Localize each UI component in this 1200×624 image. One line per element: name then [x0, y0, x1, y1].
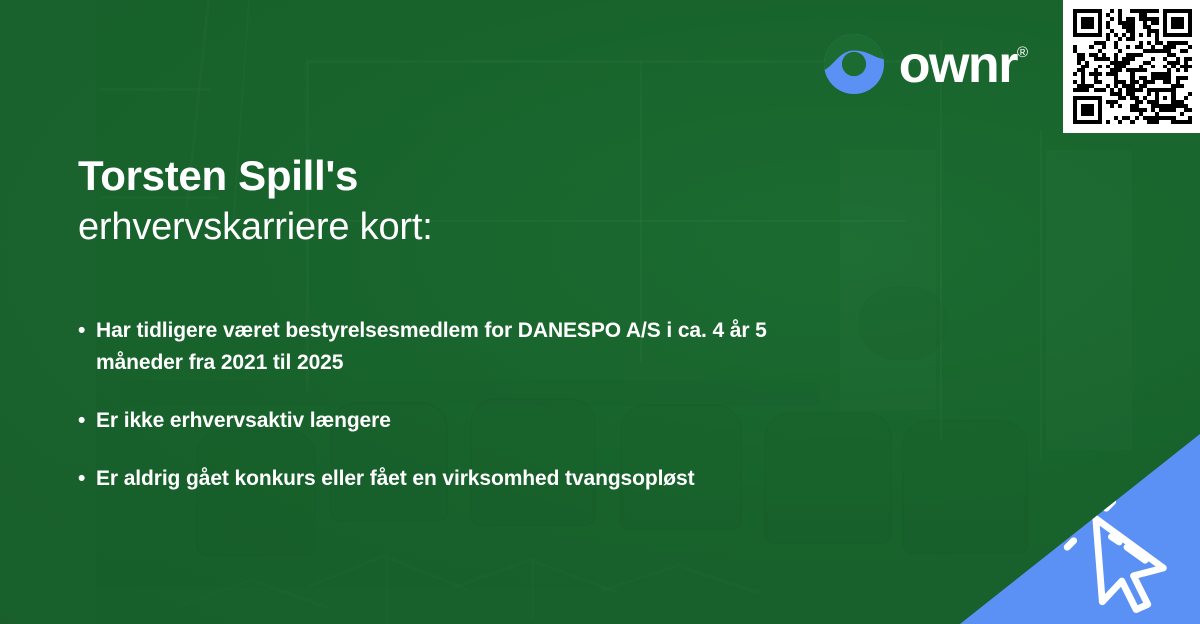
list-item: • Er ikke erhvervsaktiv længere: [78, 405, 908, 437]
bullet-marker: •: [78, 405, 96, 437]
career-summary-list: • Har tidligere været bestyrelsesmedlem …: [78, 315, 908, 495]
trademark-symbol: ®: [1017, 44, 1028, 61]
ownr-circle-swirl-logo: [823, 33, 885, 95]
business-career-card: ownr® Torsten Spill's erhvervskarriere k…: [0, 0, 1200, 624]
brand-wordmark: ownr®: [899, 39, 1028, 91]
page-title: Torsten Spill's erhvervskarriere kort:: [78, 152, 433, 250]
brand-logo: ownr®: [823, 33, 1028, 95]
list-item-text: Er ikke erhvervsaktiv længere: [96, 405, 826, 437]
title-line-1: Torsten Spill's: [78, 152, 433, 199]
bullet-marker: •: [78, 463, 96, 495]
list-item-text: Har tidligere været bestyrelsesmedlem fo…: [96, 315, 826, 379]
list-item-text: Er aldrig gået konkurs eller fået en vir…: [96, 463, 826, 495]
brand-name: ownr: [899, 36, 1017, 94]
list-item: • Har tidligere været bestyrelsesmedlem …: [78, 315, 908, 379]
title-line-2: erhvervskarriere kort:: [78, 205, 433, 250]
corner-accent-triangle: [960, 434, 1200, 624]
list-item: • Er aldrig gået konkurs eller fået en v…: [78, 463, 908, 495]
qr-code-grid: [1073, 9, 1192, 124]
bullet-marker: •: [78, 315, 96, 347]
qr-code[interactable]: [1063, 0, 1200, 133]
click-cursor-icon: [1062, 490, 1192, 620]
